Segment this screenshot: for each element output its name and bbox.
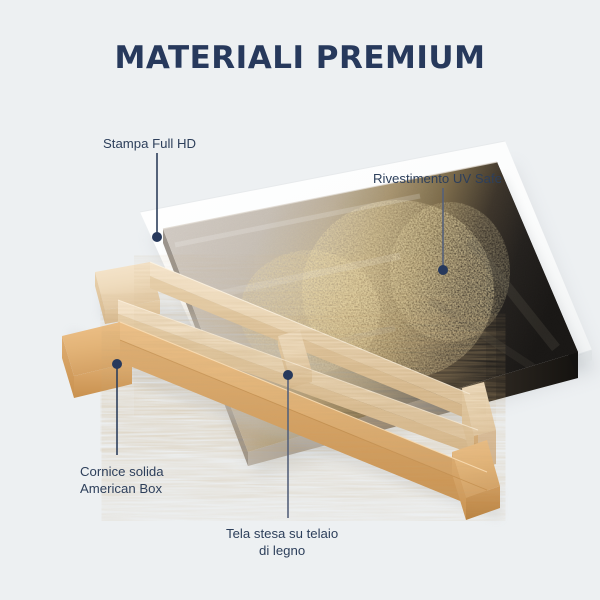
callout-dot-uv[interactable] bbox=[438, 265, 448, 275]
layer-printed-canvas bbox=[163, 162, 586, 466]
callout-dot-frame[interactable] bbox=[112, 359, 122, 369]
callout-label-cornice-solida-american-box: Cornice solida American Box bbox=[80, 463, 164, 497]
page-title: MATERIALI PREMIUM bbox=[0, 40, 600, 76]
layer-stretcher-frame bbox=[95, 262, 496, 470]
callout-dot-print[interactable] bbox=[152, 232, 162, 242]
callout-label-stampa-full-hd: Stampa Full HD bbox=[103, 135, 196, 152]
callout-label-tela-stesa-su-telaio: Tela stesa su telaio di legno bbox=[226, 525, 338, 559]
callout-dot-canvas[interactable] bbox=[283, 370, 293, 380]
infographic-stage: MATERIALI PREMIUM bbox=[0, 0, 600, 600]
layer-box-frame bbox=[62, 322, 500, 528]
layer-uv-coating bbox=[140, 141, 600, 478]
exploded-diagram bbox=[0, 0, 600, 600]
callout-label-rivestimento-uv-safe: Rivestimento UV Safe bbox=[373, 170, 502, 187]
